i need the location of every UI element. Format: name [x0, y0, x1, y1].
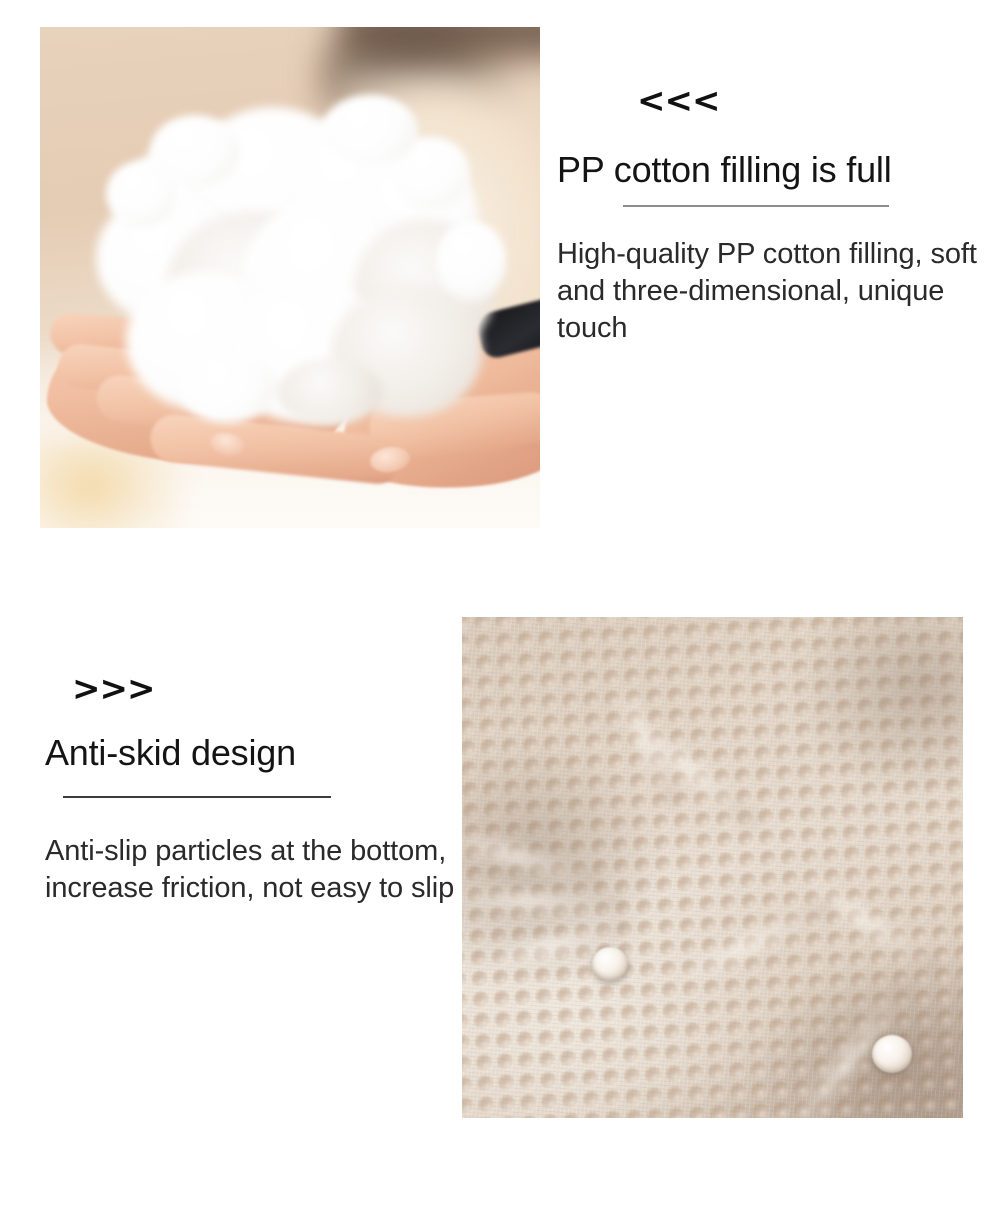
pp-cotton-divider: [623, 205, 889, 207]
tufted-button: [872, 1035, 912, 1073]
anti-skid-divider: [63, 796, 331, 798]
tufted-button: [592, 947, 628, 981]
fabric-shadow: [792, 617, 963, 797]
chevrons-left-icon: <<<: [637, 84, 719, 118]
pp-cotton-in-hands-photo: [40, 27, 540, 528]
anti-slip-dotted-fabric-photo: [462, 617, 963, 1118]
pp-cotton-ball: [92, 101, 492, 401]
pp-cotton-title: PP cotton filling is full: [557, 150, 892, 190]
anti-skid-description: Anti-slip particles at the bottom, incre…: [45, 833, 465, 907]
chevrons-right-icon: >>>: [72, 672, 154, 706]
anti-skid-title: Anti-skid design: [45, 733, 296, 773]
pp-cotton-description: High-quality PP cotton filling, soft and…: [557, 236, 997, 347]
product-feature-infographic: <<< PP cotton filling is full High-quali…: [0, 0, 1000, 1215]
